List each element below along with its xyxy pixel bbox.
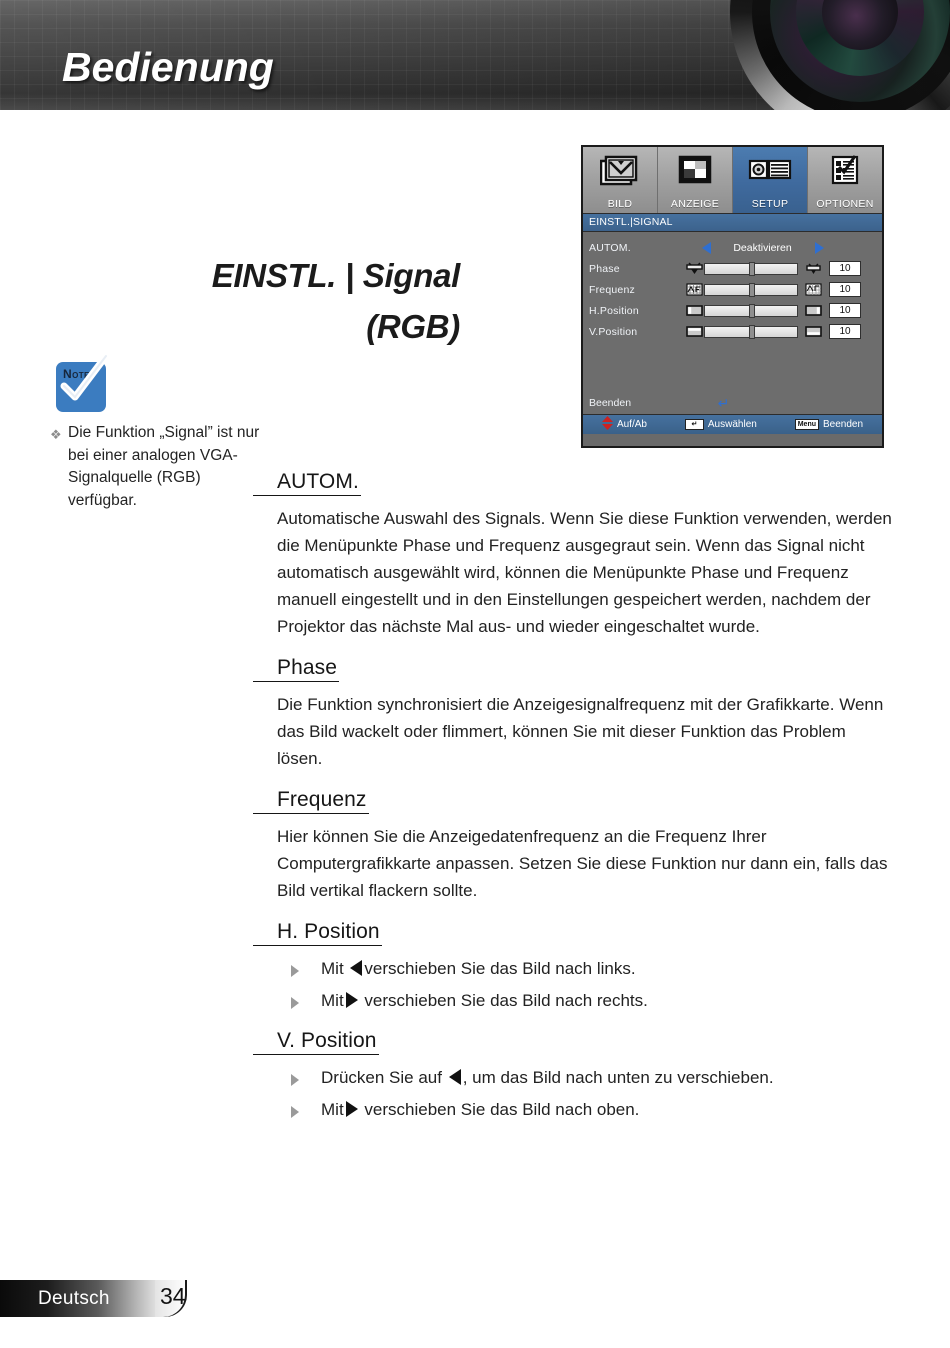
- list-item: Mit verschieben Sie das Bild nach oben.: [291, 1098, 893, 1122]
- list-item-text: Mit verschieben Sie das Bild nach links.: [321, 957, 636, 981]
- left-arrow-icon: [350, 960, 362, 976]
- page-header: Bedienung: [0, 0, 950, 110]
- frequenz-slider[interactable]: [704, 284, 798, 296]
- osd-row-hposition[interactable]: H.Position 10: [583, 300, 882, 321]
- section-phase: Phase Die Funktion synchronisiert die An…: [253, 656, 893, 772]
- enter-icon[interactable]: ↵: [631, 396, 816, 410]
- list-item: Mit verschieben Sie das Bild nach rechts…: [291, 989, 893, 1013]
- vposition-slider[interactable]: [704, 326, 798, 338]
- bullet-triangle-icon: [291, 965, 307, 977]
- v-position-bullets: Drücken Sie auf , um das Bild nach unten…: [253, 1066, 893, 1122]
- bullet-pre-text: Drücken Sie auf: [321, 1068, 447, 1087]
- list-item-text: Drücken Sie auf , um das Bild nach unten…: [321, 1066, 774, 1090]
- phase-right-icon: [804, 262, 823, 275]
- osd-subtitle: EINSTL.|SIGNAL: [583, 213, 882, 232]
- osd-tab-anzeige[interactable]: ANZEIGE: [658, 147, 733, 213]
- bullet-pre-text: Mit: [321, 991, 344, 1010]
- osd-footer-select-label: Auswählen: [708, 419, 757, 430]
- section-heading: Phase: [253, 656, 339, 682]
- osd-tab-label: ANZEIGE: [658, 198, 732, 210]
- section-heading: H. Position: [253, 920, 382, 946]
- v-position-right-icon: [804, 325, 823, 338]
- frequency-right-icon: [804, 283, 823, 296]
- section-heading: Frequenz: [253, 788, 369, 814]
- menu-key-icon: Menu: [795, 419, 819, 430]
- bullet-post-text: verschieben Sie das Bild nach links.: [364, 959, 635, 978]
- osd-option-value: Deaktivieren: [717, 242, 809, 254]
- bullet-triangle-icon: [291, 997, 307, 1009]
- osd-exit-row[interactable]: Beenden ↵: [583, 394, 882, 412]
- right-arrow-icon[interactable]: [815, 242, 824, 254]
- osd-tab-label: SETUP: [733, 198, 807, 210]
- bullet-triangle-icon: [291, 1106, 307, 1118]
- osd-row-label: AUTOM.: [589, 242, 685, 254]
- osd-body: AUTOM. Deaktivieren Phase: [583, 232, 882, 414]
- note-icon: Note: [50, 356, 108, 412]
- section-title-line2: (RGB): [120, 301, 460, 352]
- note-block: Note ❖ Die Funktion „Signal” ist nur bei…: [50, 356, 260, 512]
- vposition-value[interactable]: 10: [829, 324, 861, 339]
- osd-exit-label: Beenden: [589, 397, 631, 409]
- list-item-text: Mit verschieben Sie das Bild nach rechts…: [321, 989, 648, 1013]
- slider-knob[interactable]: [749, 325, 755, 339]
- section-body: Hier können Sie die Anzeigedatenfrequenz…: [253, 823, 893, 904]
- projector-icon: [748, 155, 792, 190]
- bullet-post-text: verschieben Sie das Bild nach rechts.: [360, 991, 648, 1010]
- osd-tab-setup[interactable]: SETUP: [733, 147, 808, 213]
- note-text: Die Funktion „Signal” ist nur bei einer …: [68, 422, 260, 512]
- osd-row-label: H.Position: [589, 305, 685, 317]
- v-position-left-icon: [685, 325, 704, 338]
- bullet-post-text: verschieben Sie das Bild nach oben.: [360, 1100, 640, 1119]
- osd-tab-label: OPTIONEN: [808, 198, 882, 210]
- content-area: AUTOM. Automatische Auswahl des Signals.…: [253, 470, 893, 1138]
- hposition-slider[interactable]: [704, 305, 798, 317]
- hposition-value[interactable]: 10: [829, 303, 861, 318]
- right-arrow-icon: [346, 1101, 358, 1117]
- osd-footer-updown-label: Auf/Ab: [617, 419, 647, 430]
- left-arrow-icon[interactable]: [702, 242, 711, 254]
- osd-row-frequenz[interactable]: Frequenz 10: [583, 279, 882, 300]
- updown-arrows-icon: [602, 416, 613, 433]
- h-position-left-icon: [685, 304, 704, 317]
- osd-tab-bar: BILD ANZEIGE: [583, 147, 882, 213]
- image-icon: [600, 155, 640, 190]
- enter-key-icon: ↵: [685, 419, 704, 430]
- bullet-pre-text: Mit: [321, 1100, 344, 1119]
- osd-footer-menu: Menu Beenden: [795, 419, 863, 430]
- osd-footer-menu-label: Beenden: [823, 419, 863, 430]
- slider-knob[interactable]: [749, 304, 755, 318]
- osd-tab-bild[interactable]: BILD: [583, 147, 658, 213]
- osd-row-label: Phase: [589, 263, 685, 275]
- osd-tab-optionen[interactable]: OPTIONEN: [808, 147, 882, 213]
- section-frequenz: Frequenz Hier können Sie die Anzeigedate…: [253, 788, 893, 904]
- options-list-icon: [828, 155, 862, 190]
- section-heading: V. Position: [253, 1029, 379, 1055]
- phase-left-icon: [685, 262, 704, 275]
- osd-row-phase[interactable]: Phase 10: [583, 258, 882, 279]
- section-title: EINSTL. | Signal (RGB): [120, 250, 460, 352]
- h-position-bullets: Mit verschieben Sie das Bild nach links.…: [253, 957, 893, 1013]
- section-title-line1: EINSTL. | Signal: [120, 250, 460, 301]
- phase-value[interactable]: 10: [829, 261, 861, 276]
- osd-row-autom[interactable]: AUTOM. Deaktivieren: [583, 237, 882, 258]
- page-footer: Deutsch 34: [0, 1280, 260, 1317]
- note-bullet-icon: ❖: [50, 422, 68, 512]
- phase-slider[interactable]: [704, 263, 798, 275]
- osd-row-label: Frequenz: [589, 284, 685, 296]
- footer-language: Deutsch: [38, 1288, 110, 1310]
- section-autom: AUTOM. Automatische Auswahl des Signals.…: [253, 470, 893, 640]
- frequency-left-icon: [685, 283, 704, 296]
- camera-lens-icon: [730, 0, 950, 110]
- osd-row-label: V.Position: [589, 326, 685, 338]
- section-v-position: V. Position Drücken Sie auf , um das Bil…: [253, 1029, 893, 1122]
- osd-footer-updown: Auf/Ab: [602, 416, 647, 433]
- bullet-triangle-icon: [291, 1074, 307, 1086]
- section-heading: AUTOM.: [253, 470, 361, 496]
- osd-tab-label: BILD: [583, 198, 657, 210]
- left-arrow-icon: [449, 1069, 461, 1085]
- osd-menu: BILD ANZEIGE: [581, 145, 884, 448]
- slider-knob[interactable]: [749, 262, 755, 276]
- list-item: Mit verschieben Sie das Bild nach links.: [291, 957, 893, 981]
- checkmark-icon: [50, 350, 112, 412]
- bullet-post-text: , um das Bild nach unten zu verschieben.: [463, 1068, 774, 1087]
- section-body: Automatische Auswahl des Signals. Wenn S…: [253, 505, 893, 640]
- list-item-text: Mit verschieben Sie das Bild nach oben.: [321, 1098, 639, 1122]
- frequenz-value[interactable]: 10: [829, 282, 861, 297]
- page-title: Bedienung: [62, 44, 274, 91]
- osd-footer-select: ↵ Auswählen: [685, 419, 757, 430]
- list-item: Drücken Sie auf , um das Bild nach unten…: [291, 1066, 893, 1090]
- slider-knob[interactable]: [749, 283, 755, 297]
- right-arrow-icon: [346, 992, 358, 1008]
- osd-footer: Auf/Ab ↵ Auswählen Menu Beenden: [583, 414, 882, 434]
- page-number: 34: [160, 1283, 186, 1310]
- osd-row-vposition[interactable]: V.Position 10: [583, 321, 882, 342]
- section-h-position: H. Position Mit verschieben Sie das Bild…: [253, 920, 893, 1013]
- bullet-pre-text: Mit: [321, 959, 348, 978]
- section-body: Die Funktion synchronisiert die Anzeiges…: [253, 691, 893, 772]
- display-pattern-icon: [675, 155, 715, 190]
- h-position-right-icon: [804, 304, 823, 317]
